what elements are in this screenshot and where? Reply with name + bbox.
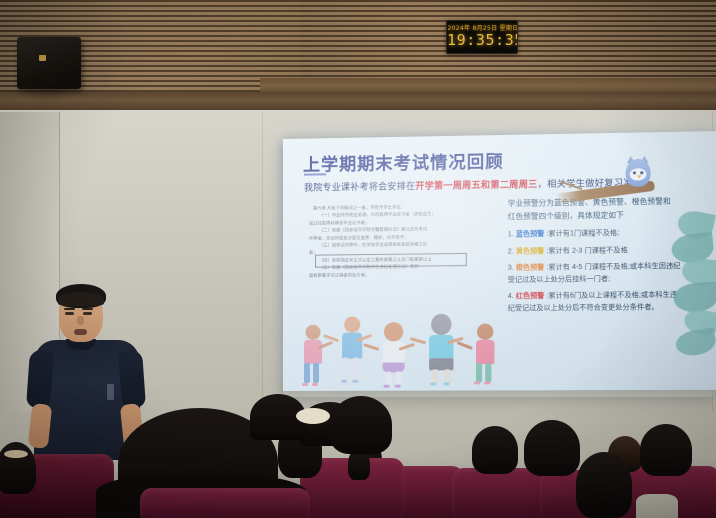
child-shoe xyxy=(430,383,436,386)
ceiling-beam xyxy=(0,92,716,112)
child-leg xyxy=(485,363,491,382)
projection-screen: 上学期期末考试情况回顾 我院专业课补考将会安排在开学第一周周五和第二周周三，相关… xyxy=(283,131,716,391)
wall-seam-left xyxy=(262,112,263,412)
child-leg xyxy=(353,358,359,380)
child-torso xyxy=(304,340,322,364)
audience-white-shirt xyxy=(636,494,678,518)
warning-tag: 橙色预警 xyxy=(516,264,545,271)
audience-head xyxy=(330,396,392,454)
child-leg xyxy=(444,369,450,383)
child-head xyxy=(384,322,403,341)
warning-text: :累计有 4-5 门课程不及格;或本科生因违纪 xyxy=(546,263,680,272)
lecture-hall-scene: 2024年 8月25日 星期日 19:35:35 上学期期末考试情况回顾 我院专… xyxy=(0,0,716,518)
audience-hairband xyxy=(4,450,28,458)
child-shoe xyxy=(484,381,490,384)
warning-tag: 红色预警 xyxy=(516,293,545,300)
owl-eye-left xyxy=(633,171,636,174)
warning-number: 1. xyxy=(508,231,514,238)
child-head xyxy=(305,325,320,340)
title-underline xyxy=(304,173,326,175)
child-head xyxy=(477,324,493,340)
child-shoe xyxy=(474,381,480,384)
presenter-brow-left xyxy=(64,308,75,310)
child-shoe xyxy=(395,385,401,388)
audience-area xyxy=(0,396,716,518)
child-leg xyxy=(432,369,438,383)
owl-beak xyxy=(637,175,641,178)
speaker-led-icon xyxy=(39,55,46,61)
warning-tag: 蓝色预警 xyxy=(516,231,545,238)
presenter-eye-right xyxy=(83,312,92,315)
leaf-cluster-decoration xyxy=(672,211,716,355)
owl-icon xyxy=(621,155,652,190)
warning-tag: 黄色预警 xyxy=(516,248,545,255)
child-shoe xyxy=(341,380,347,383)
wall-speaker xyxy=(17,37,81,89)
child-torso xyxy=(476,340,494,364)
child-head xyxy=(344,316,360,332)
child-figure xyxy=(469,324,502,387)
presenter-mouth xyxy=(74,329,87,335)
digital-wall-clock: 2024年 8月25日 星期日 19:35:35 xyxy=(446,20,518,54)
child-figure xyxy=(335,316,369,386)
child-torso xyxy=(342,333,362,359)
child-shoe xyxy=(383,385,389,388)
presenter-hair xyxy=(56,284,106,308)
warning-number: 4. xyxy=(508,293,514,300)
child-shoe xyxy=(312,383,318,386)
subtitle-prefix: 我院专业课补考将会安排在 xyxy=(304,181,415,193)
child-torso xyxy=(429,335,453,359)
child-figure xyxy=(375,322,411,387)
audience-head xyxy=(472,426,518,474)
child-shoe xyxy=(443,382,449,385)
child-leg xyxy=(313,363,319,383)
child-leg xyxy=(476,363,482,382)
leaf-icon xyxy=(674,327,716,358)
child-figure xyxy=(422,314,461,387)
presenter-nose xyxy=(77,316,84,325)
warning-number: 2. xyxy=(508,248,514,255)
warning-text: :累计有1门课程不及格; xyxy=(546,230,619,238)
audience-hairband xyxy=(296,408,330,424)
child-leg xyxy=(396,372,402,386)
audience-head-ponytail xyxy=(576,452,632,518)
doc-tail-line-2: 留校察看学位注销者的处分者。 xyxy=(309,270,491,279)
slide-title: 上学期期末考试情况回顾 xyxy=(303,147,504,176)
child-head xyxy=(431,314,451,335)
presenter-eye-left xyxy=(65,312,74,315)
warning-text: :累计有6门及以上课程不及格;或本科生违 xyxy=(546,292,677,300)
presenter-brow-right xyxy=(82,308,93,310)
subtitle-highlight: 开学第一周周五和第二周周三 xyxy=(415,179,537,191)
child-torso xyxy=(382,341,404,363)
warning-text: :累计有 2-3 门课程不及格 xyxy=(546,247,627,255)
audience-head xyxy=(524,420,580,476)
document-highlight-box xyxy=(315,253,467,268)
child-leg xyxy=(343,358,349,380)
seat xyxy=(140,488,310,518)
audience-head xyxy=(640,424,692,476)
warning-number: 3. xyxy=(508,265,514,272)
child-leg xyxy=(385,372,391,386)
child-leg xyxy=(304,363,310,383)
clock-time: 19:35:35 xyxy=(447,32,518,49)
child-shoe xyxy=(302,383,308,386)
speaker-shadow xyxy=(20,88,78,104)
children-illustration xyxy=(291,301,524,387)
child-shoe xyxy=(352,380,358,383)
owl-eye-right xyxy=(640,171,643,174)
